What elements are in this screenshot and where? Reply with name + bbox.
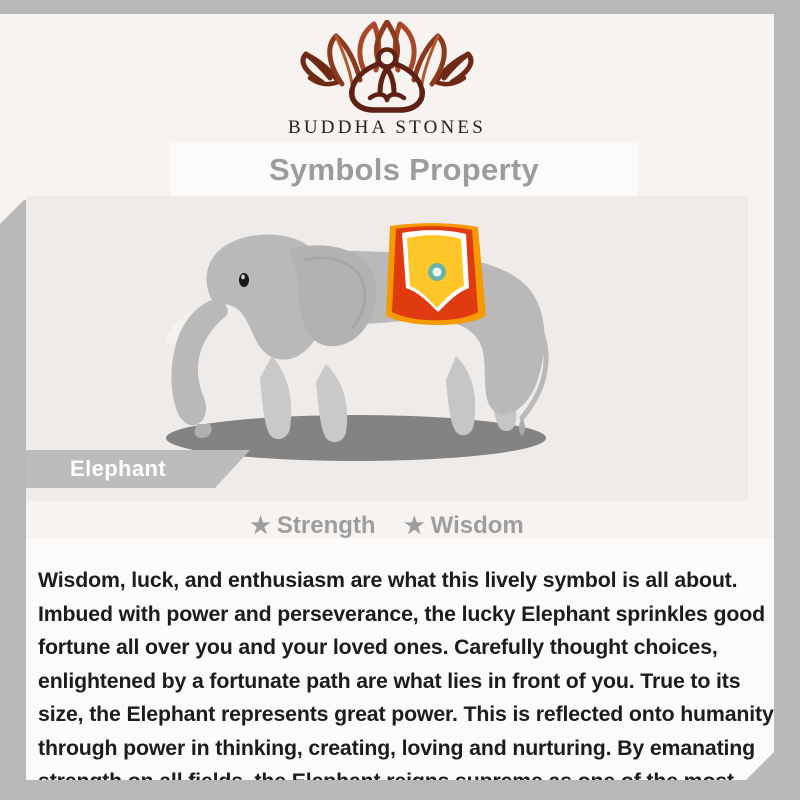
page-title: Symbols Property	[269, 152, 539, 188]
symbol-name: Elephant	[70, 450, 166, 488]
frame-left-notch	[0, 198, 26, 224]
trait-list: ★Strength ★Wisdom	[26, 512, 748, 540]
trait-wisdom-label: Wisdom	[431, 512, 524, 539]
symbols-property-card: BUDDHA STONES Symbols Property	[0, 0, 800, 800]
frame-bottom-bar	[0, 780, 800, 800]
symbol-description: Wisdom, luck, and enthusiasm are what th…	[38, 564, 776, 800]
star-icon: ★	[404, 512, 425, 538]
brand-header: BUDDHA STONES	[0, 14, 774, 142]
trait-wisdom: ★Wisdom	[404, 512, 524, 540]
frame-bottom-notch	[746, 752, 774, 780]
star-icon: ★	[250, 512, 271, 538]
lotus-meditation-logo-icon	[292, 20, 482, 115]
frame-right-bar	[774, 0, 800, 800]
trait-strength: ★Strength	[250, 512, 375, 540]
page-title-band: Symbols Property	[170, 143, 638, 196]
symbol-name-banner: Elephant	[0, 450, 250, 488]
trait-strength-label: Strength	[277, 512, 376, 539]
description-panel: Wisdom, luck, and enthusiasm are what th…	[26, 538, 774, 780]
brand-logo: BUDDHA STONES	[0, 20, 774, 139]
frame-top-bar	[0, 0, 800, 14]
frame-left-bar	[0, 200, 26, 800]
brand-name: BUDDHA STONES	[0, 117, 774, 139]
